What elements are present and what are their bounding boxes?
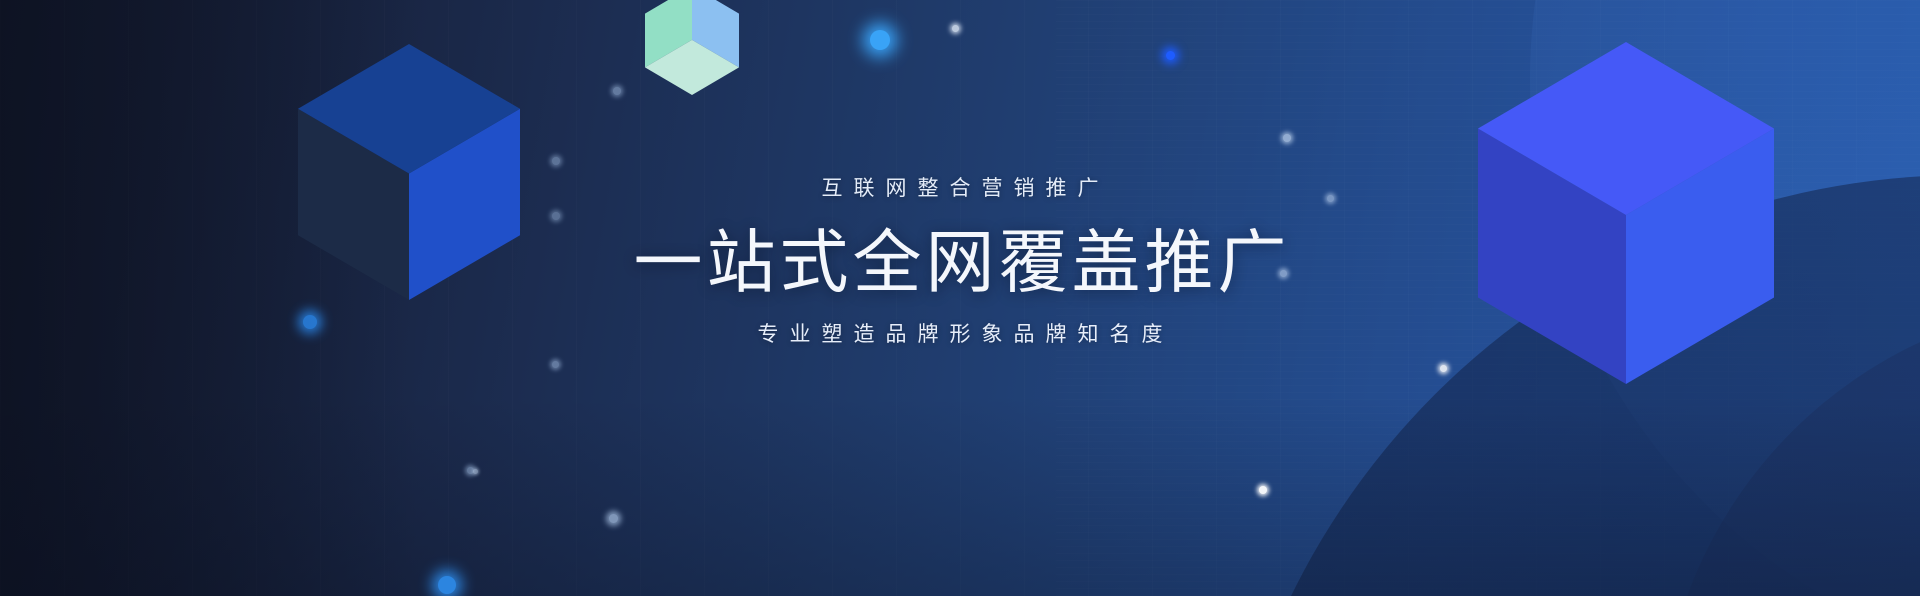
dot-pale-l1 <box>613 87 621 95</box>
hero-headline: 一站式全网覆盖推广 <box>0 220 1920 306</box>
dot-blue-l8 <box>438 576 456 594</box>
dot-pale-l9 <box>473 469 478 474</box>
hero-subline: 专业塑造品牌形象品牌知名度 <box>0 320 1920 350</box>
dot-white-r2 <box>1259 486 1267 494</box>
dot-cyan-large <box>870 30 890 50</box>
dot-pale-l2 <box>552 157 560 165</box>
dot-pale-l6 <box>609 514 618 523</box>
hero-copy-block: 互联网整合营销推广 一站式全网覆盖推广 专业塑造品牌形象品牌知名度 <box>0 174 1920 350</box>
dot-blue-bright <box>1166 51 1175 60</box>
dot-pale-1 <box>1283 134 1291 142</box>
cube-center-mint <box>645 0 739 95</box>
hero-banner: 互联网整合营销推广 一站式全网覆盖推广 专业塑造品牌形象品牌知名度 <box>0 0 1920 596</box>
bottom-edge-vignette <box>0 396 1920 596</box>
hero-tagline: 互联网整合营销推广 <box>0 174 1920 204</box>
cube-center-mint-face-left <box>645 0 739 95</box>
dot-white-r1 <box>1440 365 1447 372</box>
cube-center-mint-face-right <box>645 0 739 95</box>
dot-pale-l4 <box>552 361 559 368</box>
cube-center-mint-face-bottom <box>645 0 739 95</box>
dot-pale-l5 <box>467 467 474 474</box>
dot-white-small <box>952 25 959 32</box>
